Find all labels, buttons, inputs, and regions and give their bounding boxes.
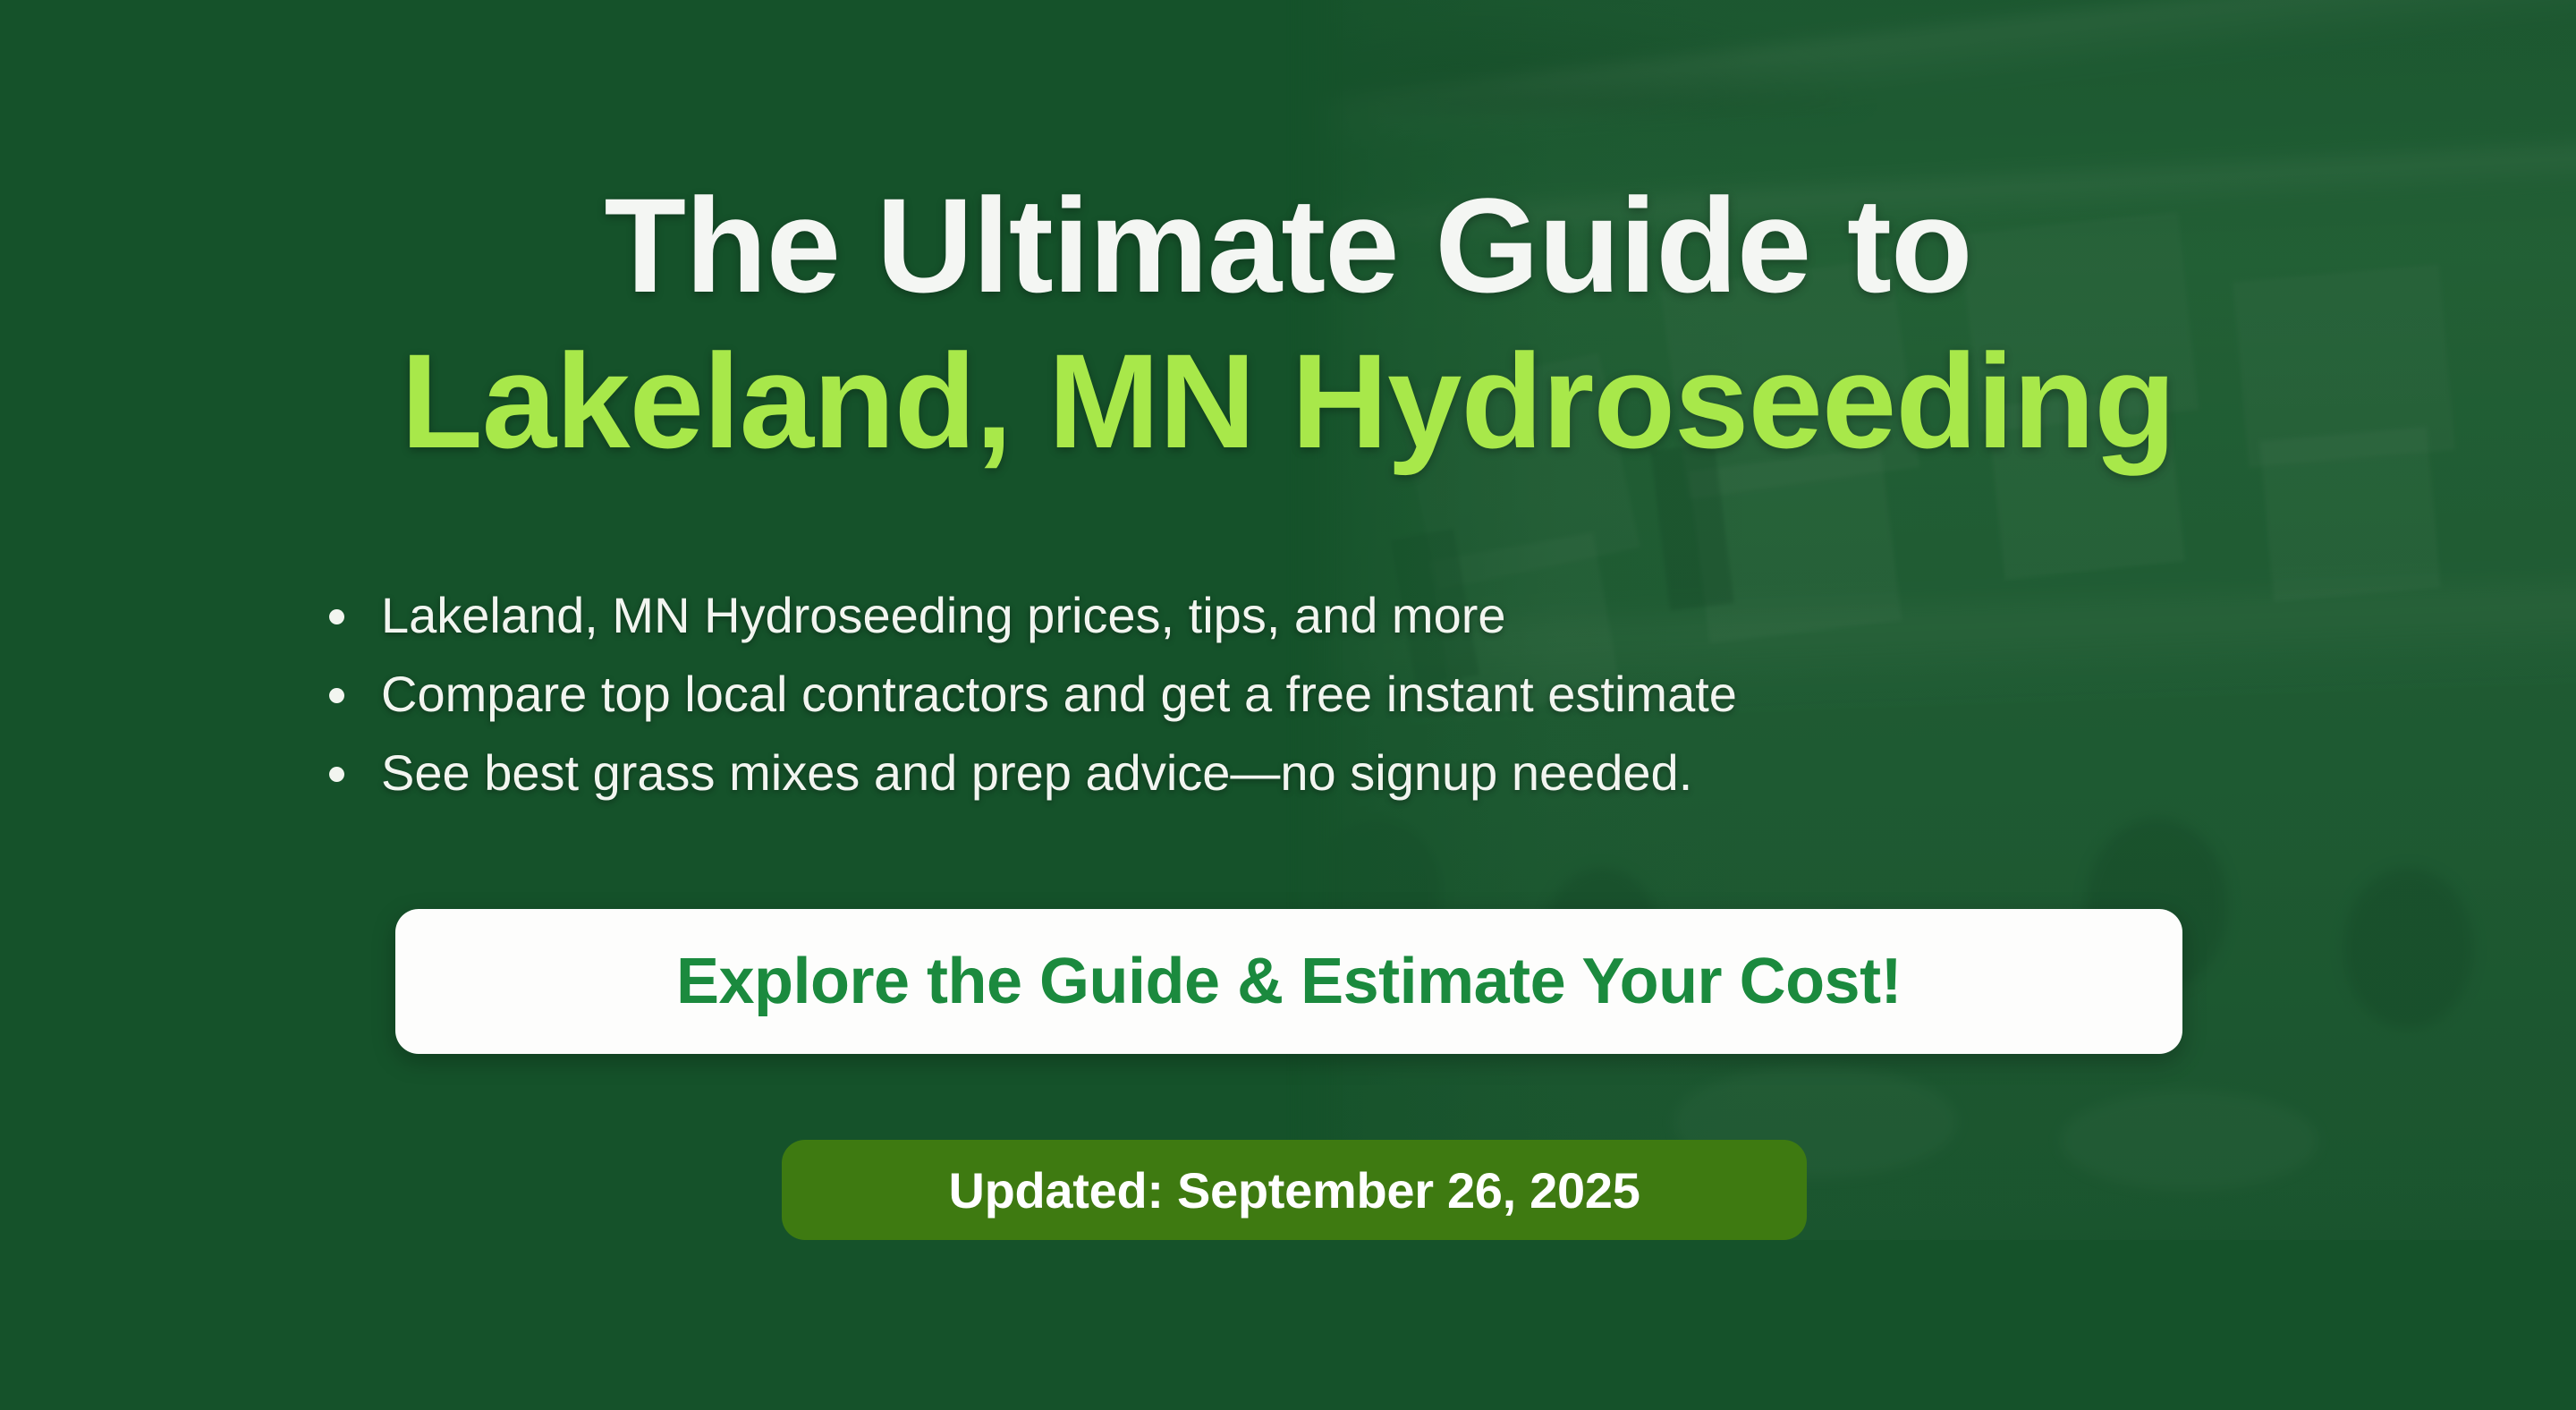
bullet-dot-icon [329,767,344,782]
hero-content: The Ultimate Guide to Lakeland, MN Hydro… [0,0,2576,1410]
hero-banner: The Ultimate Guide to Lakeland, MN Hydro… [0,0,2576,1410]
feature-bullet-list: Lakeland, MN Hydroseeding prices, tips, … [313,586,1737,822]
list-item: Compare top local contractors and get a … [313,665,1737,724]
title-line-1: The Ultimate Guide to [0,178,2576,312]
bullet-text: Compare top local contractors and get a … [381,666,1737,722]
updated-date-badge: Updated: September 26, 2025 [782,1140,1807,1240]
bullet-text: See best grass mixes and prep advice—no … [381,744,1692,801]
bullet-text: Lakeland, MN Hydroseeding prices, tips, … [381,587,1506,643]
bullet-dot-icon [329,688,344,703]
explore-guide-cta-button[interactable]: Explore the Guide & Estimate Your Cost! [395,909,2182,1054]
list-item: Lakeland, MN Hydroseeding prices, tips, … [313,586,1737,645]
updated-date-label: Updated: September 26, 2025 [948,1161,1640,1219]
bullet-dot-icon [329,609,344,624]
title-line-2: Lakeland, MN Hydroseeding [0,334,2576,468]
list-item: See best grass mixes and prep advice—no … [313,743,1737,803]
cta-button-label: Explore the Guide & Estimate Your Cost! [676,945,1902,1018]
page-title: The Ultimate Guide to Lakeland, MN Hydro… [0,178,2576,468]
